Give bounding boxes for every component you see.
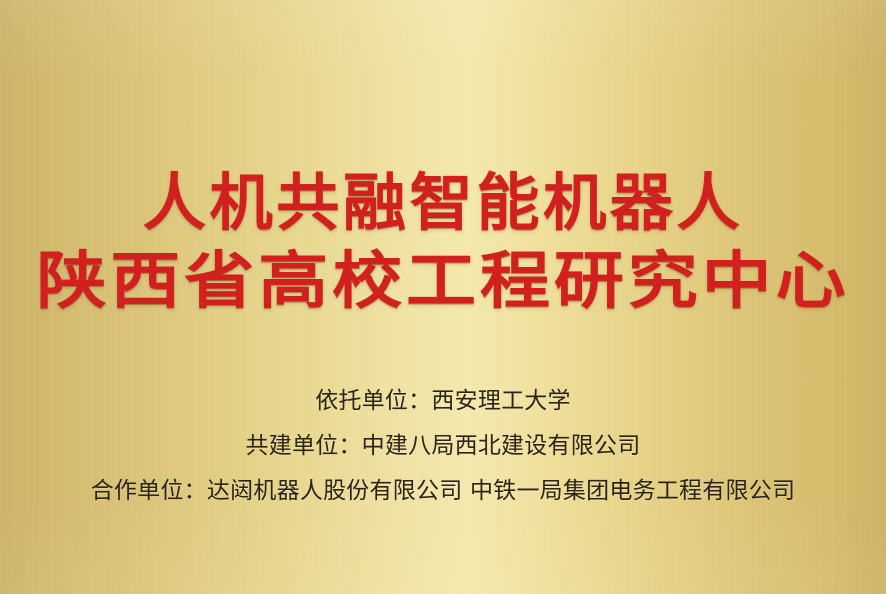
supporting-institution-line: 依托单位：西安理工大学 <box>0 390 886 413</box>
plaque-title: 人机共融智能机器人 陕西省高校工程研究中心 <box>0 172 886 312</box>
cooperating-institution-line: 合作单位：达闼机器人股份有限公司 中铁一局集团电务工程有限公司 <box>0 480 886 503</box>
award-plaque: 人机共融智能机器人 陕西省高校工程研究中心 依托单位：西安理工大学 共建单位：中… <box>0 0 886 594</box>
title-line-2: 陕西省高校工程研究中心 <box>0 250 886 312</box>
co-building-institution-line: 共建单位：中建八局西北建设有限公司 <box>0 435 886 458</box>
affiliation-block: 依托单位：西安理工大学 共建单位：中建八局西北建设有限公司 合作单位：达闼机器人… <box>0 390 886 503</box>
title-line-1: 人机共融智能机器人 <box>0 172 886 234</box>
plaque-content: 人机共融智能机器人 陕西省高校工程研究中心 依托单位：西安理工大学 共建单位：中… <box>0 0 886 594</box>
